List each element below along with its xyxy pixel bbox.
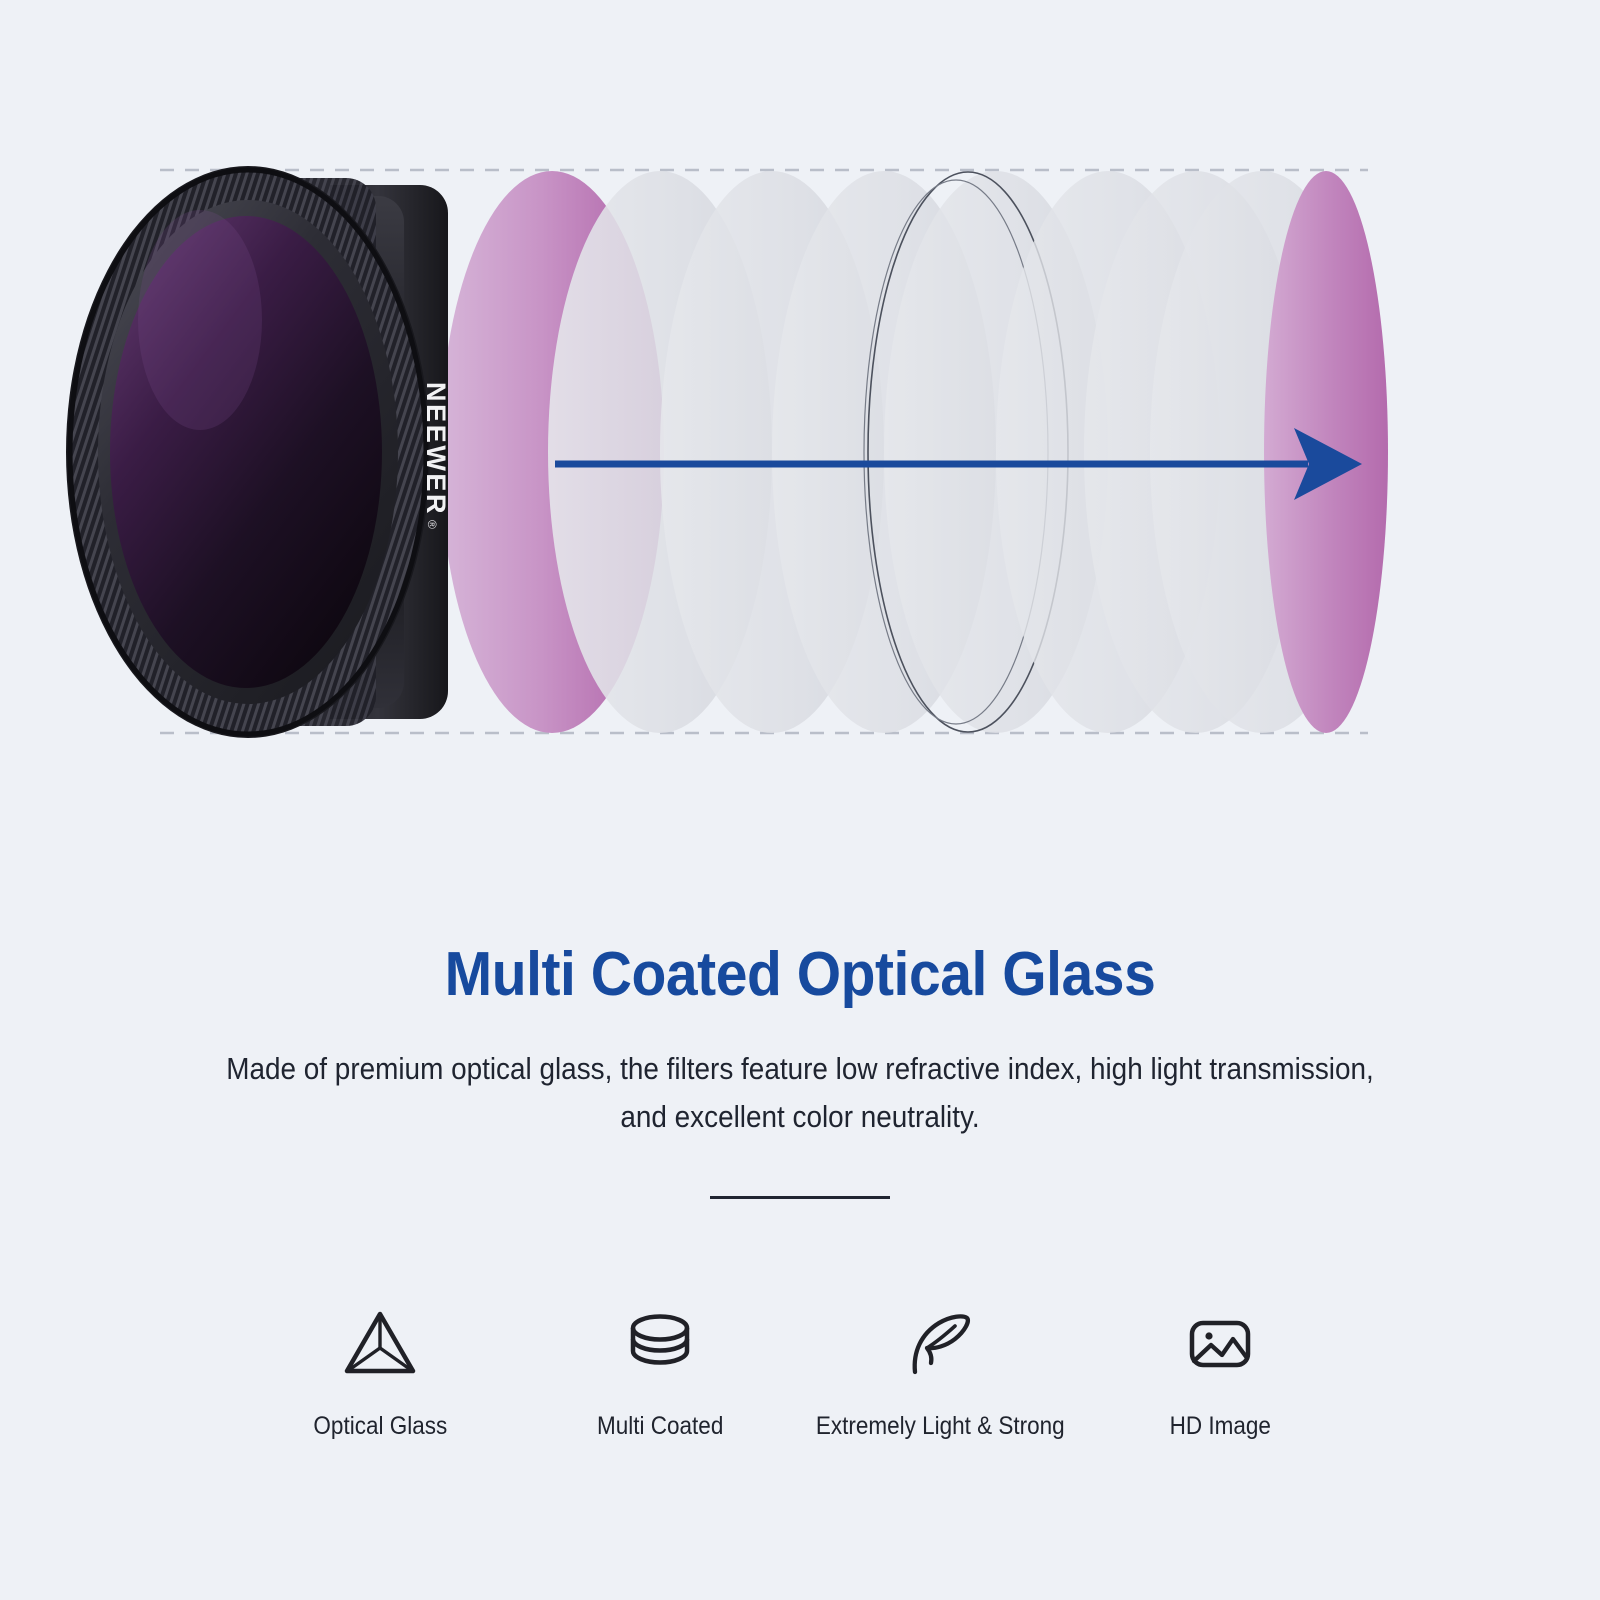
- brand-registered-mark: ®: [425, 520, 439, 529]
- feature-item-light-strong: Extremely Light & Strong: [800, 1300, 1080, 1441]
- feature-label: Extremely Light & Strong: [816, 1412, 1065, 1441]
- feature-item-optical-glass: Optical Glass: [240, 1300, 520, 1441]
- page-title: Multi Coated Optical Glass: [64, 940, 1536, 1009]
- feature-item-multi-coated: Multi Coated: [520, 1300, 800, 1441]
- feature-item-hd-image: HD Image: [1080, 1300, 1360, 1441]
- page-description: Made of premium optical glass, the filte…: [220, 1045, 1381, 1141]
- layers-stack-icon: [621, 1300, 699, 1386]
- hero-product-diagram: NEEWER ®: [0, 0, 1600, 900]
- feather-icon: [901, 1300, 979, 1386]
- brand-logo: NEEWER: [421, 382, 451, 516]
- filter-glass-highlight: [138, 210, 262, 430]
- image-icon: [1181, 1300, 1259, 1386]
- section-divider: [710, 1196, 890, 1199]
- magnetic-nd-filter: NEEWER ®: [60, 160, 451, 750]
- feature-label: Optical Glass: [313, 1412, 447, 1441]
- copy-block: Multi Coated Optical Glass Made of premi…: [0, 940, 1600, 1199]
- feature-icon-row: Optical Glass Multi Coated Extremely Lig…: [0, 1300, 1600, 1441]
- prism-icon: [341, 1300, 419, 1386]
- feature-label: Multi Coated: [597, 1412, 723, 1441]
- optical-layer-stack: [440, 171, 1388, 733]
- feature-label: HD Image: [1169, 1412, 1270, 1441]
